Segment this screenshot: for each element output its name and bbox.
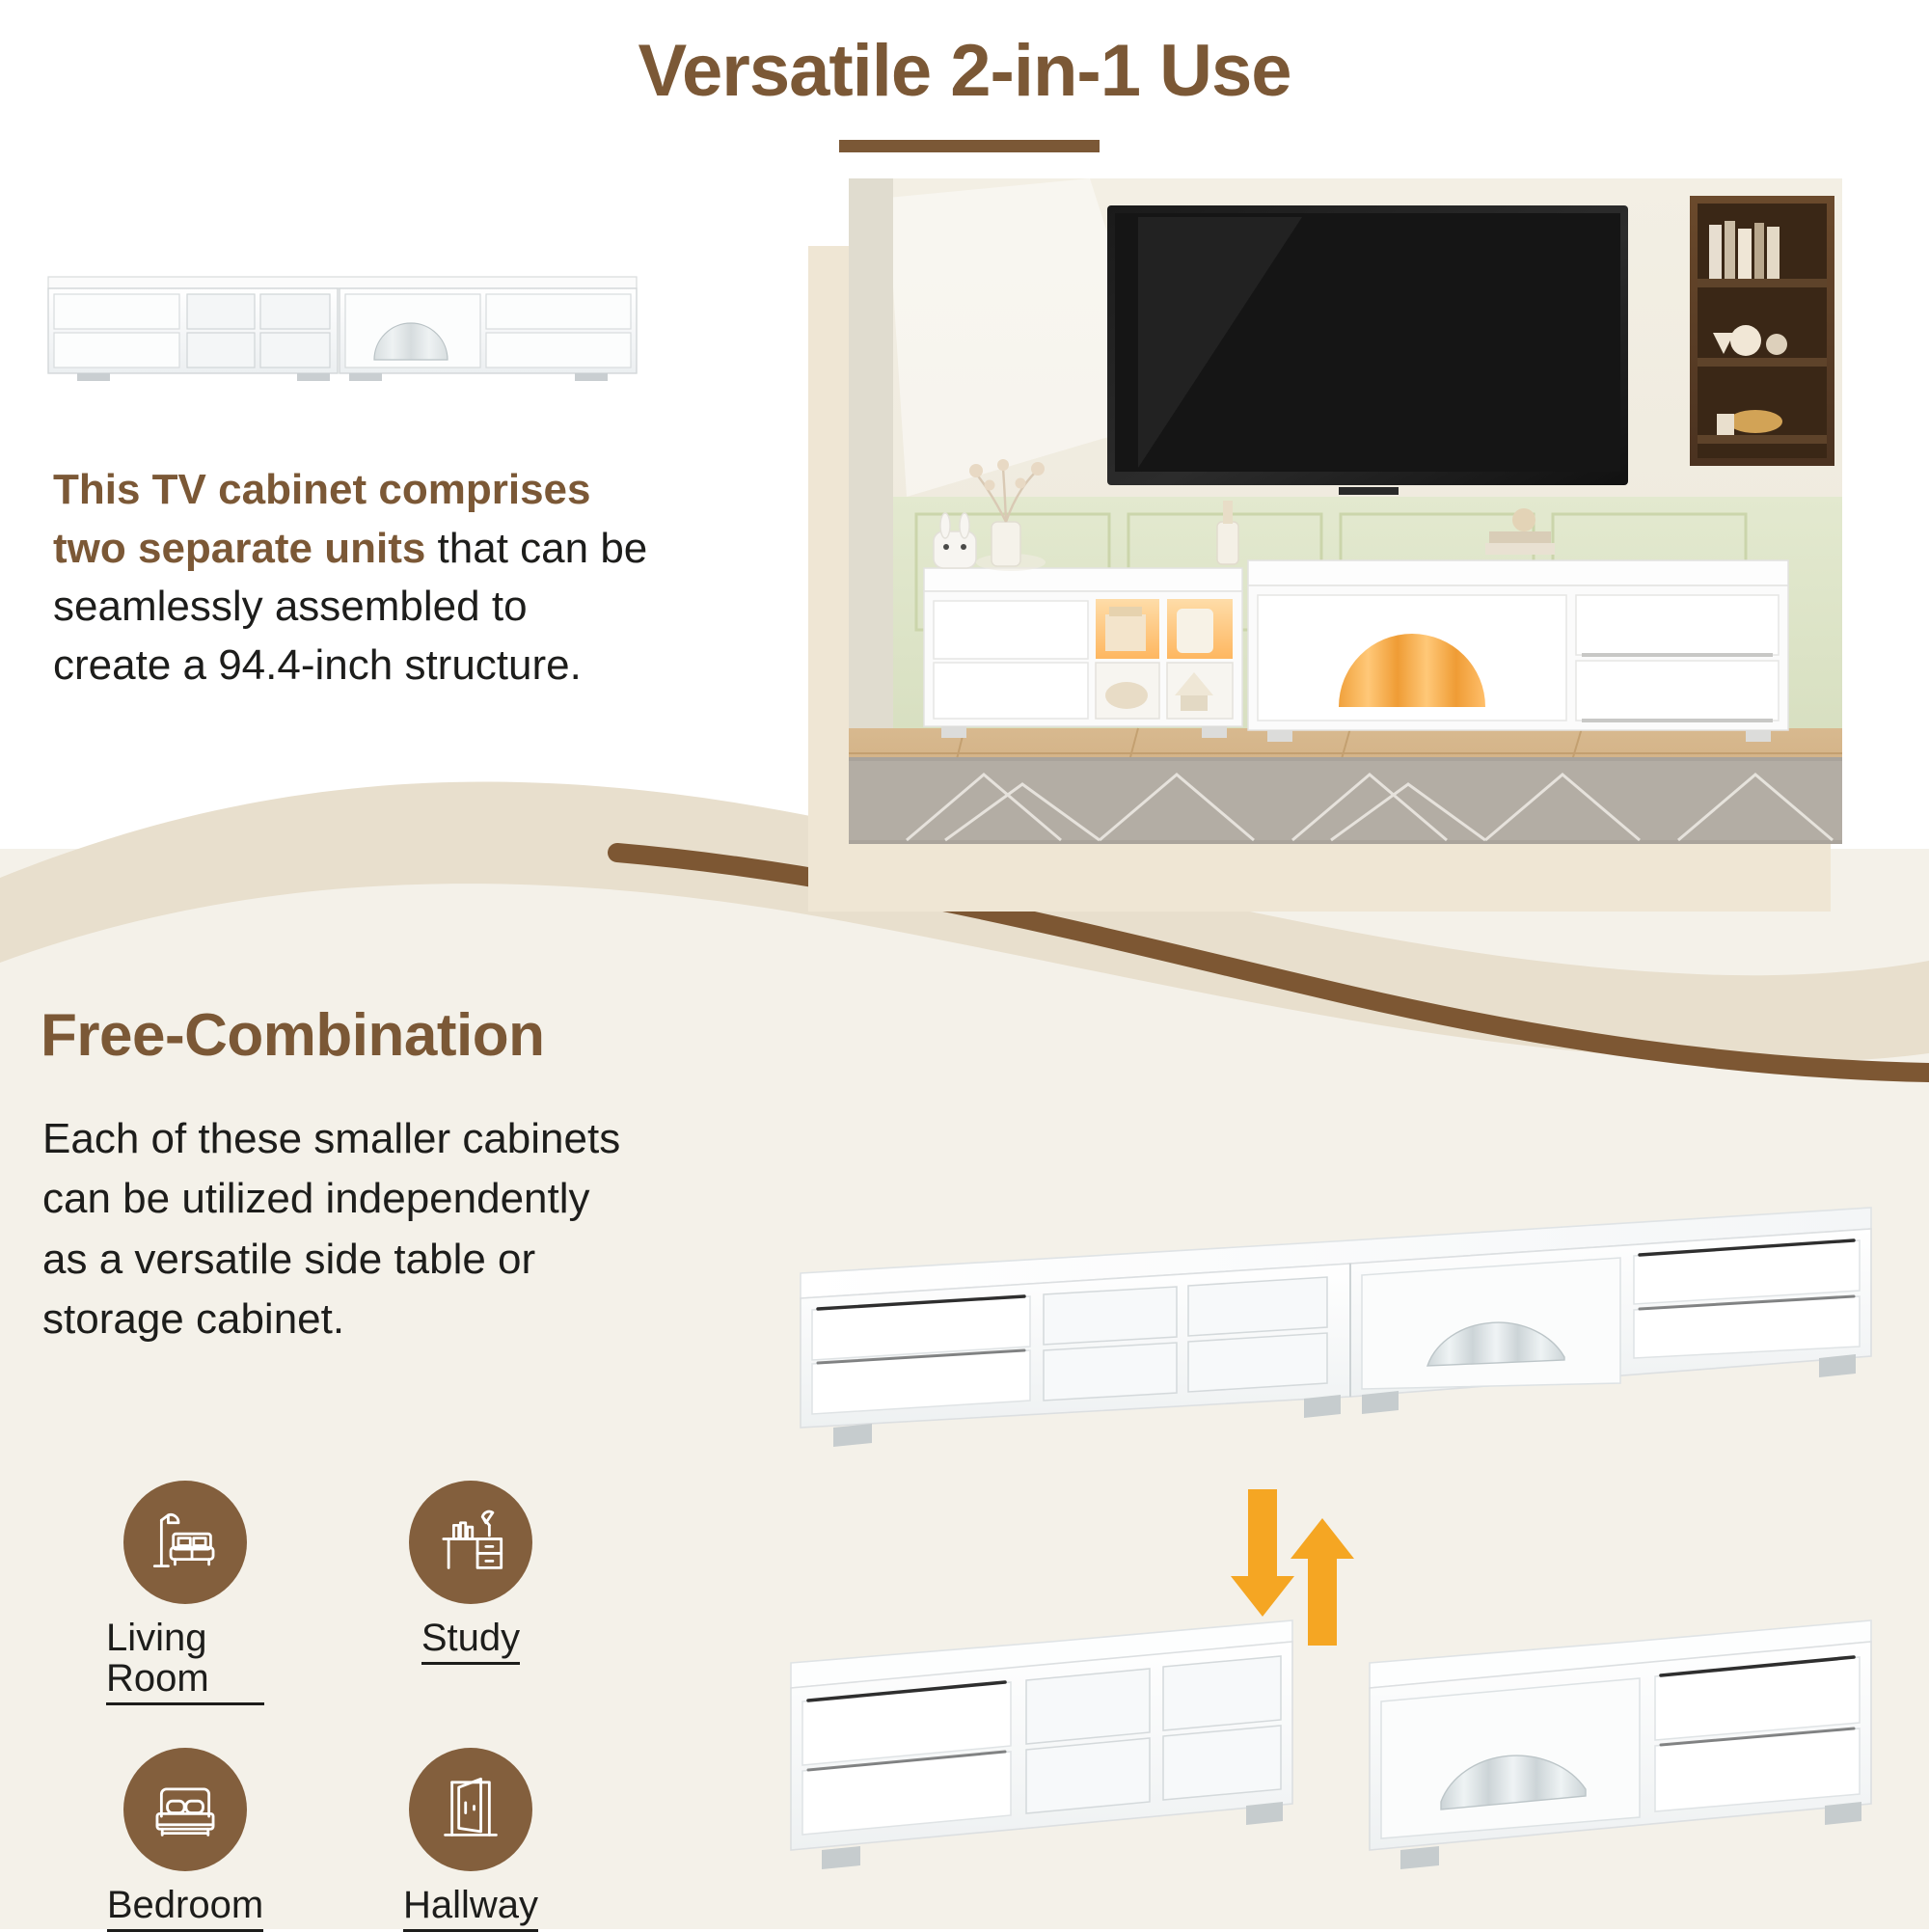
- top-paragraph: This TV cabinet comprises two separate u…: [53, 461, 651, 695]
- use-case-label: Bedroom: [107, 1885, 263, 1932]
- use-case-label: Study: [421, 1618, 520, 1665]
- free-combination-paragraph: Each of these smaller cabinets can be ut…: [42, 1109, 640, 1350]
- use-case-bedroom[interactable]: Bedroom: [106, 1748, 264, 1932]
- lifestyle-photo: [849, 178, 1842, 844]
- desk-lamp-icon: [409, 1481, 532, 1604]
- free-combination-heading: Free-Combination: [41, 1001, 544, 1070]
- sofa-lamp-icon: [123, 1481, 247, 1604]
- render-left-unit: [772, 1582, 1312, 1900]
- use-case-grid: Living Room Study: [106, 1481, 550, 1905]
- use-case-living-room[interactable]: Living Room: [106, 1481, 264, 1705]
- use-case-hallway[interactable]: Hallway: [392, 1748, 550, 1932]
- use-case-study[interactable]: Study: [392, 1481, 550, 1705]
- title-underline: [839, 140, 1100, 152]
- render-combined-cabinet-small: [39, 256, 656, 410]
- use-case-label: Hallway: [403, 1885, 538, 1932]
- open-door-icon: [409, 1748, 532, 1871]
- infographic-canvas: Versatile 2-in-1 Use: [0, 0, 1929, 1929]
- bed-icon: [123, 1748, 247, 1871]
- use-case-label: Living Room: [106, 1618, 264, 1705]
- page-title: Versatile 2-in-1 Use: [0, 29, 1929, 113]
- render-right-unit: [1350, 1582, 1890, 1900]
